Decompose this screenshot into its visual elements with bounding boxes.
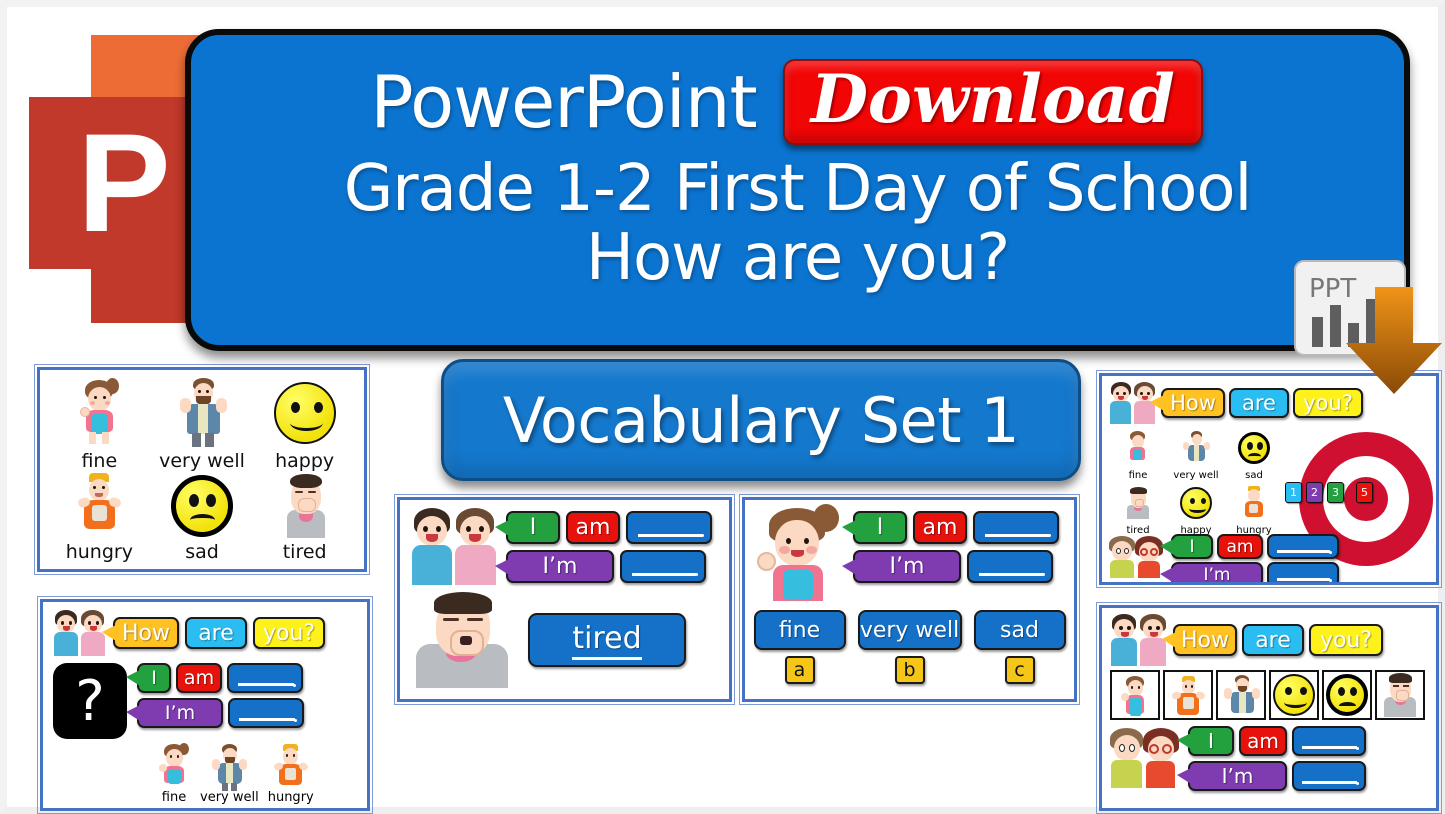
option-very-well[interactable]: very well bbox=[200, 744, 259, 805]
option-fine[interactable]: fine bbox=[157, 744, 191, 805]
choice-letter[interactable]: a bbox=[785, 656, 815, 684]
strip-photo-sad[interactable] bbox=[1322, 670, 1372, 720]
slide-canvas: P PPT PowerPoint bbox=[0, 0, 1445, 814]
answer-word-chip[interactable]: tired bbox=[528, 613, 686, 667]
chip-how: How bbox=[113, 617, 179, 649]
chip-am: am bbox=[1217, 534, 1263, 559]
title-row: PowerPoint Download bbox=[191, 49, 1404, 155]
mini-vocab-fine: fine bbox=[1109, 426, 1167, 481]
mini-vocab-tired: tired bbox=[1109, 481, 1167, 536]
slide-vocabulary-grid[interactable]: fine bbox=[37, 367, 367, 572]
chip-blank-answer-2[interactable] bbox=[1267, 562, 1339, 585]
vocab-label: tired bbox=[283, 541, 327, 563]
chip-you: you? bbox=[1309, 624, 1383, 656]
choice-c[interactable]: sad c bbox=[974, 610, 1066, 684]
vocab-cell-fine: fine bbox=[48, 376, 151, 472]
mini-vocab-sad: sad bbox=[1225, 426, 1283, 481]
slide-picture-strip[interactable]: How are you? bbox=[1099, 605, 1439, 811]
mini-label: very well bbox=[1173, 470, 1218, 481]
download-button-label: Download bbox=[811, 60, 1175, 138]
option-hungry[interactable]: hungry bbox=[268, 744, 314, 805]
title-banner: PowerPoint Download Grade 1-2 First Day … bbox=[185, 29, 1410, 351]
chip-blank-answer-2[interactable] bbox=[620, 550, 706, 583]
choice-a[interactable]: fine a bbox=[754, 610, 846, 684]
vocab-cell-sad: sad bbox=[151, 472, 254, 564]
tired-man-icon bbox=[410, 592, 514, 688]
chip-are: are bbox=[1242, 624, 1304, 656]
choice-b[interactable]: very well b bbox=[858, 610, 962, 684]
picture-strip bbox=[1110, 670, 1428, 720]
vocabulary-set-label: Vocabulary Set 1 bbox=[503, 384, 1019, 457]
score-chip-1[interactable]: 1 bbox=[1285, 482, 1302, 503]
two-kids-icon bbox=[410, 508, 498, 586]
chip-i: I bbox=[506, 511, 560, 544]
chip-are: are bbox=[185, 617, 247, 649]
strip-photo-happy[interactable] bbox=[1269, 670, 1319, 720]
chip-im: I’m bbox=[506, 550, 614, 583]
chip-im: I’m bbox=[1171, 562, 1263, 585]
mystery-question-mark: ? bbox=[53, 663, 127, 739]
chip-im: I’m bbox=[137, 698, 223, 728]
sad-face-icon bbox=[1326, 674, 1368, 716]
chip-blank-answer-1[interactable] bbox=[973, 511, 1059, 544]
girl-ok-icon bbox=[755, 508, 843, 600]
strip-photo-fine[interactable] bbox=[1110, 670, 1160, 720]
two-kids-glasses-icon bbox=[1110, 726, 1182, 788]
ppt-download-icon[interactable]: PPT bbox=[1279, 255, 1445, 400]
chip-how: How bbox=[1173, 624, 1237, 656]
chip-i: I bbox=[1188, 726, 1234, 756]
chip-how: How bbox=[1161, 388, 1225, 418]
chip-am: am bbox=[913, 511, 967, 544]
score-chip-2[interactable]: 2 bbox=[1306, 482, 1323, 503]
chip-blank-answer-1[interactable] bbox=[227, 663, 303, 693]
slide-dartboard-game[interactable]: How are you? fine bbox=[1099, 373, 1439, 585]
chip-i: I bbox=[137, 663, 171, 693]
chip-blank-answer-2[interactable] bbox=[967, 550, 1053, 583]
chip-blank-answer-2[interactable] bbox=[228, 698, 304, 728]
choice-label[interactable]: sad bbox=[974, 610, 1066, 650]
mini-label: sad bbox=[1245, 470, 1263, 481]
vocab-label: happy bbox=[275, 450, 334, 472]
chip-blank-answer-2[interactable] bbox=[1292, 761, 1366, 791]
two-kids-glasses-icon bbox=[1109, 534, 1167, 578]
chip-blank-answer-1[interactable] bbox=[1267, 534, 1339, 559]
strip-photo-tired[interactable] bbox=[1375, 670, 1425, 720]
slide-answer-reveal[interactable]: I am I’m bbox=[397, 497, 732, 702]
vocab-label: very well bbox=[159, 450, 245, 472]
mini-vocab-hungry: hungry bbox=[1225, 481, 1283, 536]
svg-text:PPT: PPT bbox=[1309, 274, 1356, 304]
chip-am: am bbox=[566, 511, 620, 544]
happy-face-icon bbox=[1273, 674, 1315, 716]
score-chip-row: 1 2 3 5 bbox=[1285, 482, 1373, 503]
download-button[interactable]: Download bbox=[783, 59, 1203, 144]
sad-face-icon bbox=[171, 475, 233, 537]
chip-i: I bbox=[853, 511, 907, 544]
option-label: very well bbox=[200, 790, 259, 805]
vocab-cell-tired: tired bbox=[253, 472, 356, 564]
sad-face-icon bbox=[1238, 432, 1270, 464]
choice-label[interactable]: very well bbox=[858, 610, 962, 650]
strip-photo-very-well[interactable] bbox=[1216, 670, 1266, 720]
vocab-label: fine bbox=[81, 450, 117, 472]
chip-im: I’m bbox=[853, 550, 961, 583]
mini-label: fine bbox=[1129, 470, 1148, 481]
vocab-label: hungry bbox=[66, 541, 133, 563]
vocab-cell-hungry: hungry bbox=[48, 472, 151, 564]
chip-am: am bbox=[1239, 726, 1287, 756]
chip-you: you? bbox=[253, 617, 325, 649]
chip-blank-answer-1[interactable] bbox=[626, 511, 712, 544]
slide-mystery-word[interactable]: How are you? ? I bbox=[40, 599, 370, 811]
slide-multiple-choice[interactable]: I am I’m fine a bbox=[742, 497, 1077, 702]
two-kids-icon bbox=[53, 610, 107, 656]
vocab-label: sad bbox=[185, 541, 219, 563]
chip-am: am bbox=[176, 663, 222, 693]
mini-vocab-very-well: very well bbox=[1167, 426, 1225, 481]
choice-letter[interactable]: b bbox=[895, 656, 925, 684]
choice-label[interactable]: fine bbox=[754, 610, 846, 650]
vocabulary-set-banner: Vocabulary Set 1 bbox=[441, 359, 1081, 481]
two-kids-icon bbox=[1110, 614, 1168, 666]
vocab-cell-happy: happy bbox=[253, 376, 356, 472]
score-chip-5[interactable]: 5 bbox=[1356, 482, 1373, 503]
chip-i: I bbox=[1171, 534, 1213, 559]
strip-photo-hungry[interactable] bbox=[1163, 670, 1213, 720]
lesson-title-line2: How are you? bbox=[550, 224, 1045, 293]
happy-face-icon bbox=[274, 382, 336, 444]
mini-vocab-happy: happy bbox=[1167, 481, 1225, 536]
option-label: hungry bbox=[268, 790, 314, 805]
option-label: fine bbox=[162, 790, 186, 805]
lesson-title-line1: Grade 1-2 First Day of School bbox=[308, 155, 1288, 224]
vocab-cell-very-well: very well bbox=[151, 376, 254, 472]
score-chip-3[interactable]: 3 bbox=[1327, 482, 1344, 503]
choice-letter[interactable]: c bbox=[1005, 656, 1035, 684]
chip-blank-answer-1[interactable] bbox=[1292, 726, 1366, 756]
app-name-text: PowerPoint bbox=[370, 66, 756, 138]
happy-face-icon bbox=[1180, 487, 1212, 519]
chip-im: I’m bbox=[1188, 761, 1287, 791]
